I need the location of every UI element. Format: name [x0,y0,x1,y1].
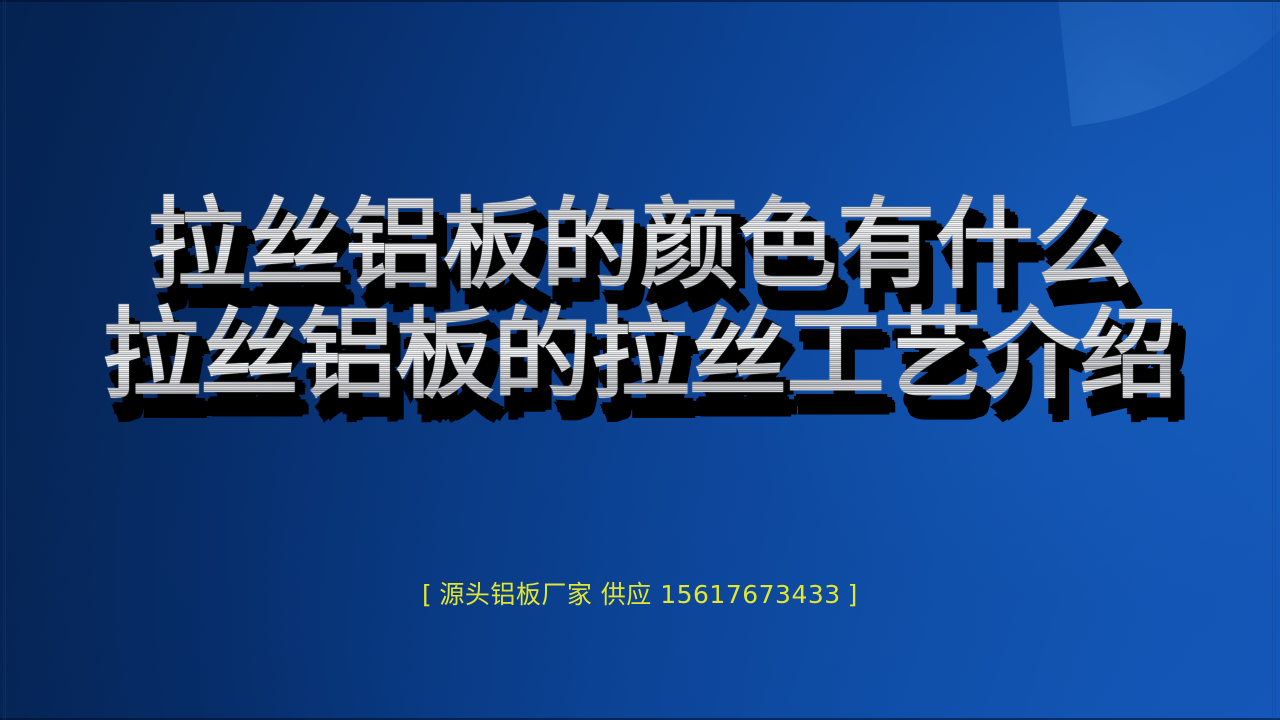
page-title: 拉丝铝板的颜色有什么 拉丝铝板的颜色有什么 拉丝铝板的拉丝工艺介绍 拉丝铝板的拉… [0,196,1280,410]
top-edge-strip [0,0,1280,2]
title-line-1-text: 拉丝铝板的颜色有什么 [148,188,1133,302]
title-line-2-text: 拉丝铝板的拉丝工艺介绍 [103,298,1178,412]
slide-canvas: 拉丝铝板的颜色有什么 拉丝铝板的颜色有什么 拉丝铝板的拉丝工艺介绍 拉丝铝板的拉… [0,0,1280,720]
title-line-1: 拉丝铝板的颜色有什么 拉丝铝板的颜色有什么 [0,196,1280,300]
caption-text: 源头铝板厂家 供应 15617673433 [439,580,840,609]
bracket-close-icon: ] [841,580,865,609]
bracket-open-icon: [ [415,580,439,609]
supplier-contact-caption: [源头铝板厂家 供应 15617673433] [0,575,1280,611]
title-line-2: 拉丝铝板的拉丝工艺介绍 拉丝铝板的拉丝工艺介绍 [0,306,1280,410]
background-accent-glow [1120,0,1280,118]
